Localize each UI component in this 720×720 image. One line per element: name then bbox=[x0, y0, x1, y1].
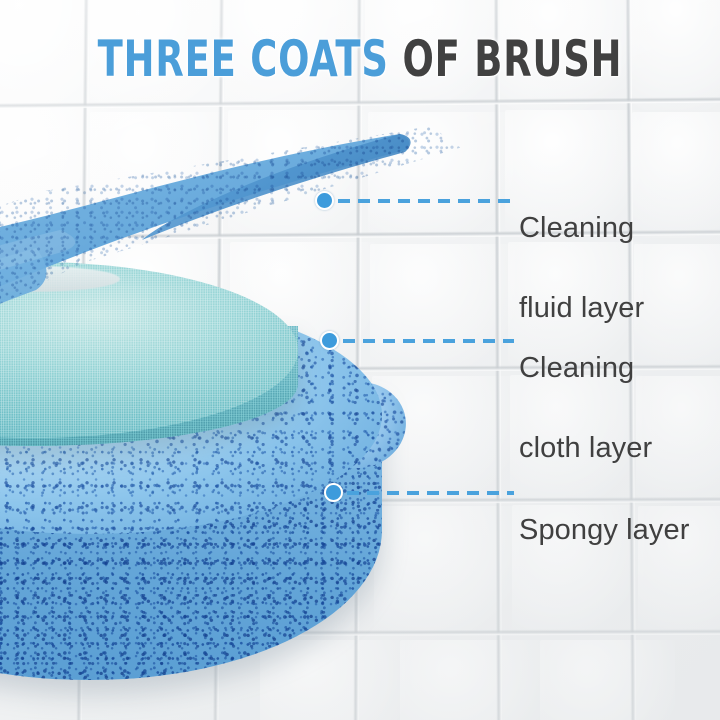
callout-label-line-1: Cleaning bbox=[519, 348, 652, 388]
product-layer-fluid-foam bbox=[0, 90, 490, 450]
callout-marker-dot[interactable] bbox=[315, 191, 334, 210]
callout-marker-dot[interactable] bbox=[324, 483, 343, 502]
callout-cleaning-cloth-layer bbox=[320, 331, 514, 350]
callout-marker-dot[interactable] bbox=[320, 331, 339, 350]
callout-dash-line bbox=[347, 491, 514, 495]
title-blue-part: THREE COATS bbox=[98, 30, 389, 88]
callout-cleaning-fluid-layer bbox=[315, 191, 514, 210]
title-dark-part: OF BRUSH bbox=[402, 30, 622, 88]
callout-spongy-layer bbox=[324, 483, 514, 502]
callout-dash-line bbox=[338, 199, 514, 203]
callout-label-line-1: Cleaning bbox=[519, 208, 644, 248]
callout-label-spongy-layer: Spongy layer bbox=[519, 470, 689, 590]
callout-label-line-2: cloth layer bbox=[519, 428, 652, 468]
page-title: THREE COATS OF BRUSH bbox=[65, 34, 655, 84]
callout-dash-line bbox=[343, 339, 514, 343]
infographic-canvas: THREE COATS OF BRUSH bbox=[0, 0, 720, 720]
callout-label-line-1: Spongy layer bbox=[519, 510, 689, 550]
product-exploded-illustration bbox=[0, 90, 490, 710]
